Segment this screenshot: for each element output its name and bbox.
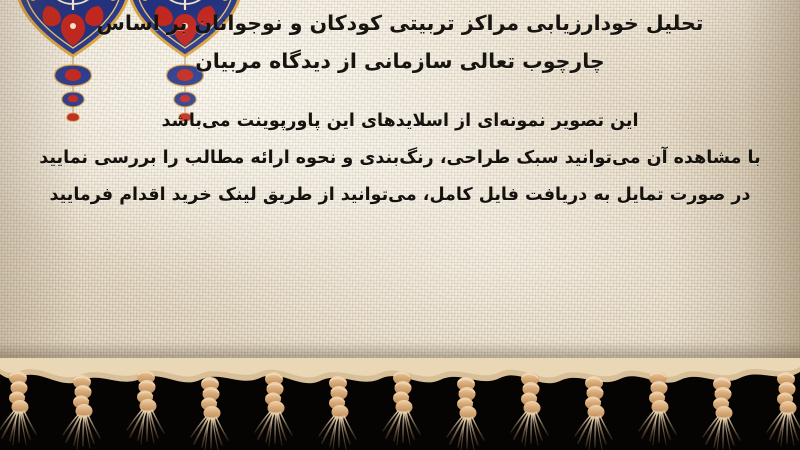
body-line-1: این تصویر نمونه‌ای از اسلایدهای این پاور…	[14, 103, 786, 140]
carpet-fringe-band	[0, 358, 800, 450]
title-line-1: تحلیل خودارزیابی مراکز تربیتی کودکان و ن…	[14, 4, 786, 42]
body-line-2: با مشاهده آن می‌توانید سبک طراحی، رنگ‌بن…	[14, 140, 786, 177]
slide-canvas: تحلیل خودارزیابی مراکز تربیتی کودکان و ن…	[0, 0, 800, 450]
title-line-2: چارچوب تعالی سازمانی از دیدگاه مربیان	[14, 42, 786, 80]
body-line-3: در صورت تمایل به دریافت فایل کامل، می‌تو…	[14, 177, 786, 214]
slide-body: این تصویر نمونه‌ای از اسلایدهای این پاور…	[14, 103, 786, 214]
slide-title: تحلیل خودارزیابی مراکز تربیتی کودکان و ن…	[14, 4, 786, 80]
fringe-tassels	[0, 370, 800, 450]
